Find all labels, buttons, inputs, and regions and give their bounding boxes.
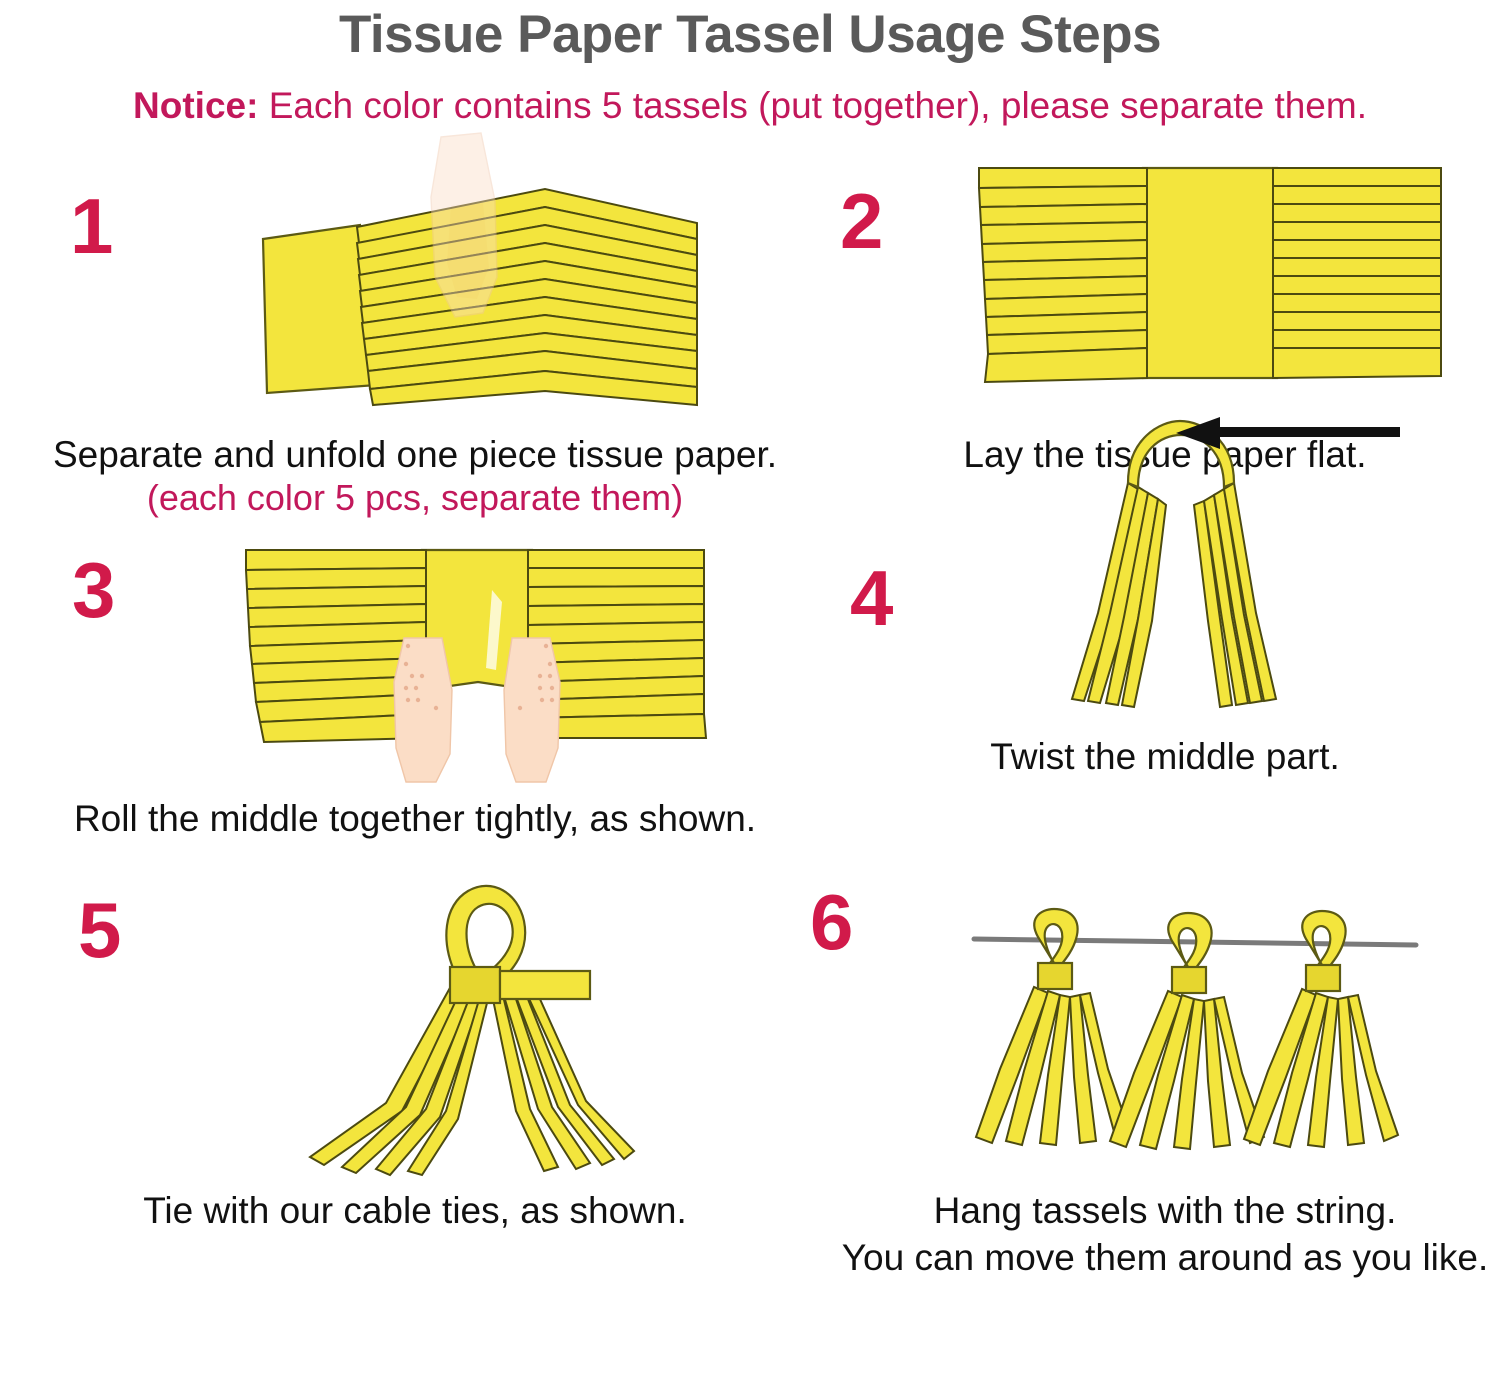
step-4: 4	[830, 537, 1500, 841]
step-6-illustration	[830, 867, 1500, 1177]
step-number-5: 5	[78, 891, 121, 969]
step-6-subcaption: You can move them around as you like.	[830, 1236, 1500, 1280]
arrow-left-icon	[1176, 417, 1400, 449]
page-title: Tissue Paper Tassel Usage Steps	[0, 6, 1500, 64]
notice-banner: Notice: Each color contains 5 tassels (p…	[0, 86, 1500, 127]
step-1-caption: Separate and unfold one piece tissue pap…	[0, 433, 830, 477]
step-4-caption: Twist the middle part.	[830, 735, 1500, 779]
step-6: 6	[830, 867, 1500, 1280]
step-5-illustration	[0, 867, 830, 1177]
tassel-1	[976, 909, 1130, 1145]
step-number-2: 2	[840, 182, 883, 260]
notice-label: Notice:	[133, 85, 258, 126]
notice-text: Each color contains 5 tassels (put toget…	[258, 85, 1367, 126]
step-3-caption: Roll the middle together tightly, as sho…	[0, 797, 830, 841]
step-3-illustration	[0, 537, 830, 787]
step-3: 3	[0, 537, 830, 841]
step-number-1: 1	[70, 187, 113, 265]
step-1-illustration	[0, 127, 830, 427]
step-1-subcaption: (each color 5 pcs, separate them)	[0, 477, 830, 519]
step-row-2: 3	[0, 537, 1500, 841]
step-5: 5	[0, 867, 830, 1280]
hand-overlay	[431, 133, 497, 317]
step-1: 1	[0, 127, 830, 519]
step-number-3: 3	[72, 551, 115, 629]
step-2-illustration	[830, 127, 1500, 427]
step-4-illustration	[830, 475, 1500, 725]
step-number-4: 4	[850, 559, 893, 637]
tassel-2	[1110, 913, 1264, 1149]
right-hand	[504, 638, 560, 782]
left-hand	[394, 638, 452, 782]
step-6-caption: Hang tassels with the string.	[830, 1189, 1500, 1233]
step-row-3: 5	[0, 867, 1500, 1280]
step-number-6: 6	[810, 883, 853, 961]
steps-grid: 1	[0, 127, 1500, 1280]
step-5-caption: Tie with our cable ties, as shown.	[0, 1189, 830, 1233]
